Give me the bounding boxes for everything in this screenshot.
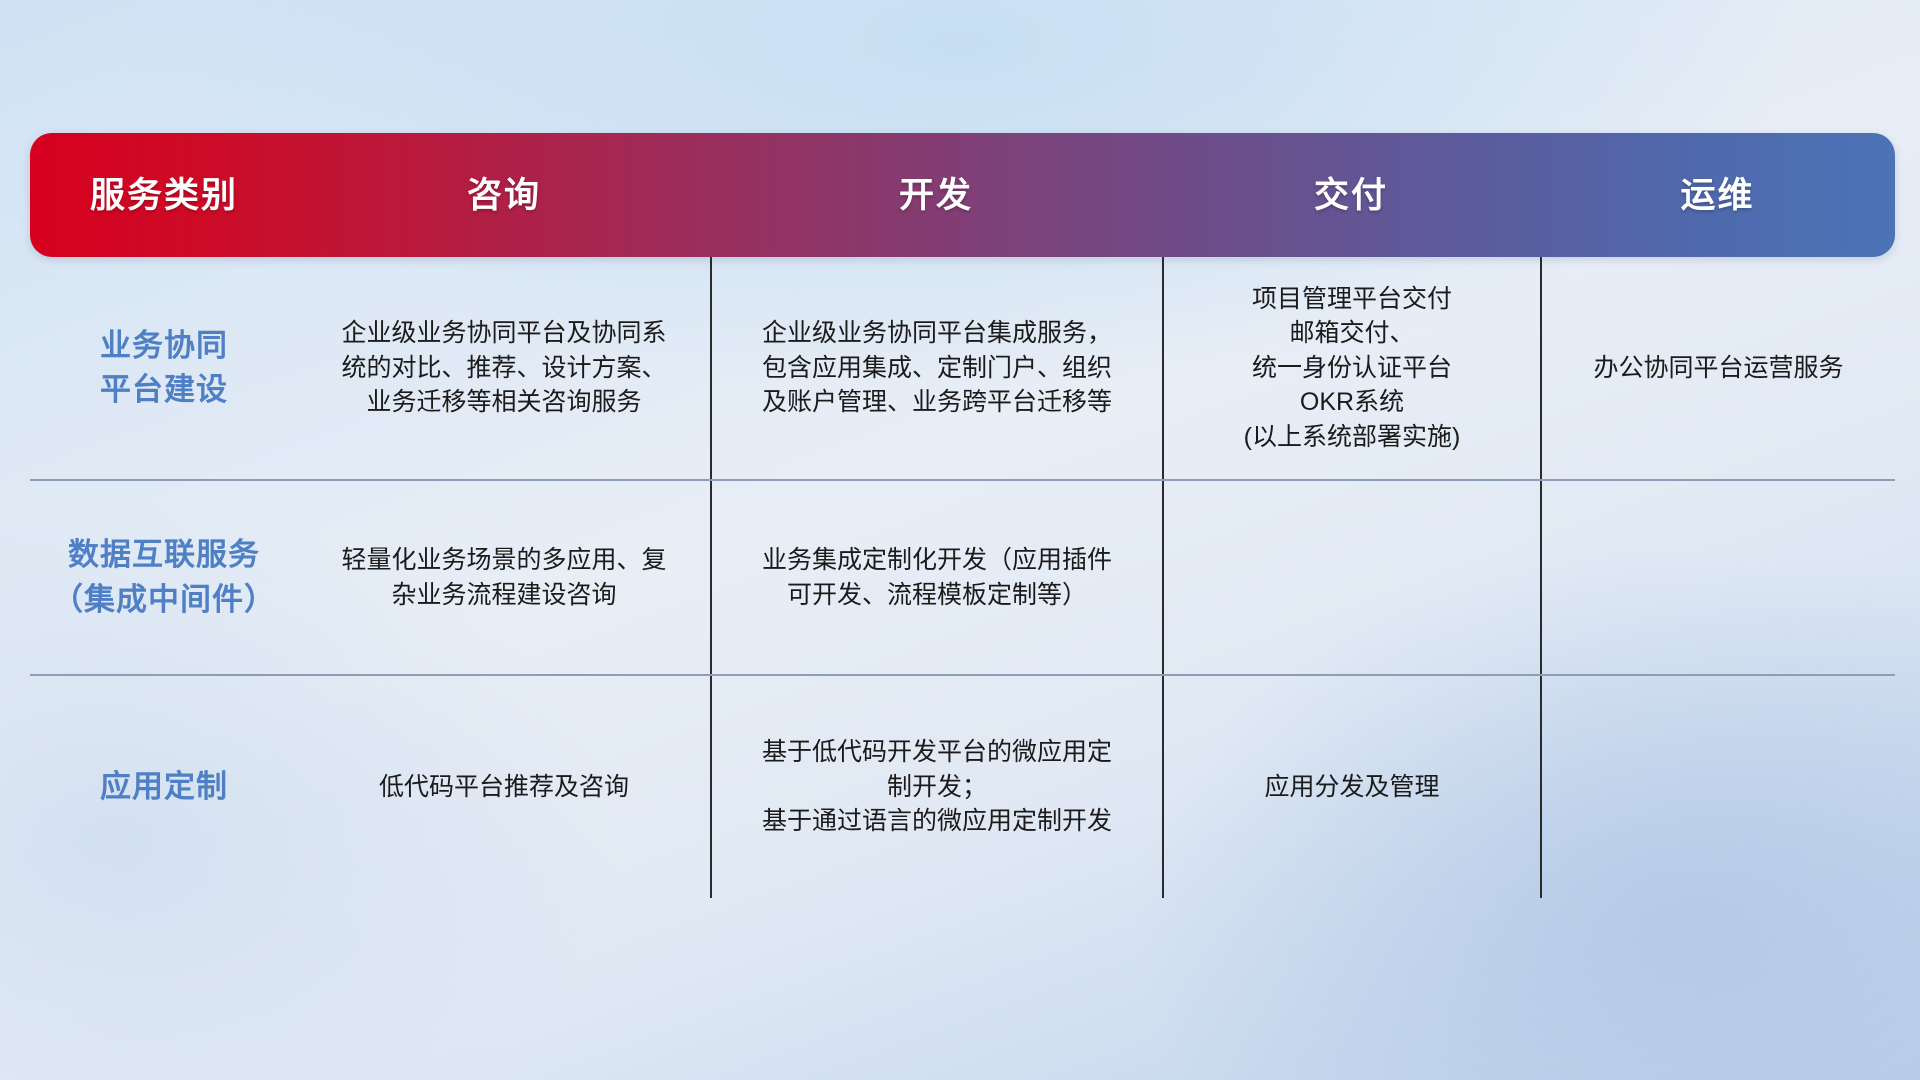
- column-header-development: 开发: [710, 178, 1162, 213]
- table-row: 数据互联服务 （集成中间件） 轻量化业务场景的多应用、复 杂业务流程建设咨询 业…: [30, 481, 1895, 676]
- table-body: 业务协同 平台建设 企业级业务协同平台及协同系 统的对比、推荐、设计方案、 业务…: [30, 257, 1895, 898]
- cell-consulting: 企业级业务协同平台及协同系 统的对比、推荐、设计方案、 业务迁移等相关咨询服务: [298, 257, 710, 479]
- column-header-consulting: 咨询: [298, 178, 710, 213]
- column-header-delivery: 交付: [1162, 178, 1540, 213]
- service-matrix-table: 服务类别 咨询 开发 交付 运维 业务协同 平台建设 企业级业务协同平台及协同系…: [30, 133, 1895, 898]
- cell-operations: [1540, 676, 1895, 898]
- table-row: 业务协同 平台建设 企业级业务协同平台及协同系 统的对比、推荐、设计方案、 业务…: [30, 257, 1895, 481]
- cell-development: 业务集成定制化开发（应用插件 可开发、流程模板定制等）: [710, 481, 1162, 674]
- table-header-row: 服务类别 咨询 开发 交付 运维: [30, 133, 1895, 257]
- cell-delivery: 应用分发及管理: [1162, 676, 1540, 898]
- slide-canvas: 服务类别 咨询 开发 交付 运维 业务协同 平台建设 企业级业务协同平台及协同系…: [0, 0, 1920, 1080]
- column-header-operations: 运维: [1540, 178, 1895, 213]
- cell-operations: 办公协同平台运营服务: [1540, 257, 1895, 479]
- row-category-label: 应用定制: [30, 676, 298, 898]
- cell-operations: [1540, 481, 1895, 674]
- cell-delivery: 项目管理平台交付 邮箱交付、 统一身份认证平台 OKR系统 (以上系统部署实施): [1162, 257, 1540, 479]
- cell-delivery: [1162, 481, 1540, 674]
- cell-consulting: 低代码平台推荐及咨询: [298, 676, 710, 898]
- row-category-label: 数据互联服务 （集成中间件）: [30, 481, 298, 674]
- row-category-label: 业务协同 平台建设: [30, 257, 298, 479]
- cell-development: 企业级业务协同平台集成服务， 包含应用集成、定制门户、组织 及账户管理、业务跨平…: [710, 257, 1162, 479]
- table-row: 应用定制 低代码平台推荐及咨询 基于低代码开发平台的微应用定 制开发； 基于通过…: [30, 676, 1895, 898]
- column-header-category: 服务类别: [30, 178, 298, 213]
- cell-consulting: 轻量化业务场景的多应用、复 杂业务流程建设咨询: [298, 481, 710, 674]
- cell-development: 基于低代码开发平台的微应用定 制开发； 基于通过语言的微应用定制开发: [710, 676, 1162, 898]
